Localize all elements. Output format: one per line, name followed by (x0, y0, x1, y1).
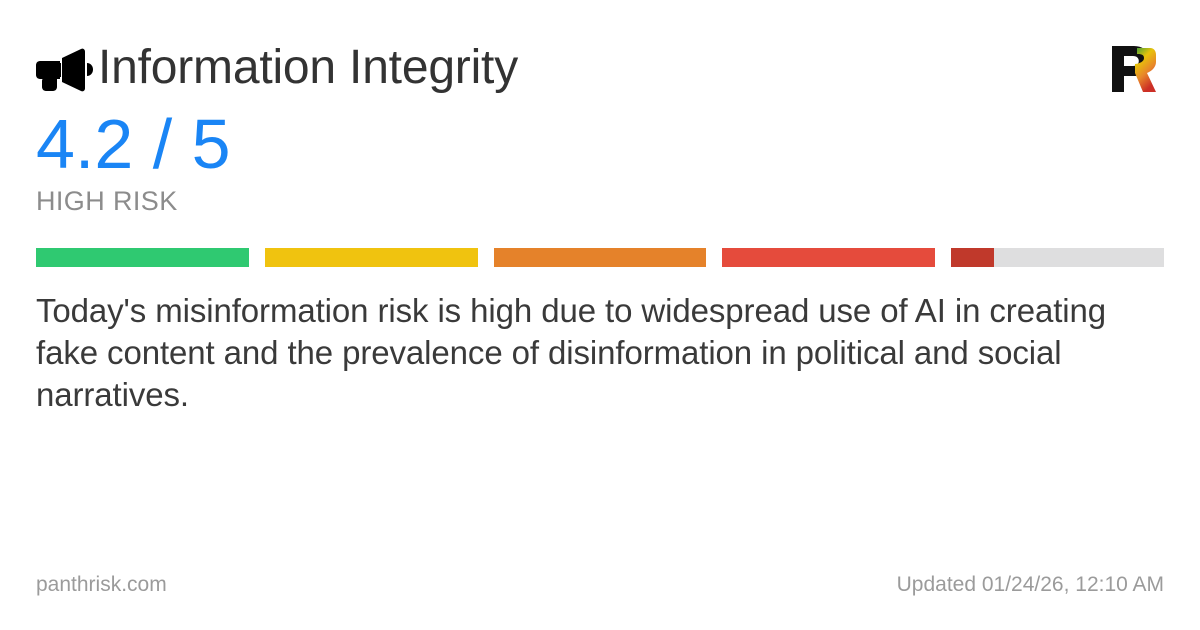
megaphone-icon (36, 43, 98, 97)
risk-meter (36, 248, 1164, 267)
header: Information Integrity (36, 40, 1164, 96)
footer-updated-label: Updated 01/24/26, 12:10 AM (897, 572, 1164, 598)
risk-level-label: HIGH RISK (36, 184, 1164, 218)
meter-segment-2 (265, 248, 478, 267)
meter-segment-1-fill (36, 248, 249, 267)
meter-segment-2-fill (265, 248, 478, 267)
meter-segment-4-fill (722, 248, 935, 267)
risk-description: Today's misinformation risk is high due … (36, 290, 1164, 416)
title-block: Information Integrity (36, 40, 518, 96)
meter-segment-5 (951, 248, 1164, 267)
meter-segment-4 (722, 248, 935, 267)
footer-site-label: panthrisk.com (36, 572, 167, 598)
page-title: Information Integrity (98, 40, 518, 96)
footer: panthrisk.com Updated 01/24/26, 12:10 AM (36, 572, 1164, 598)
meter-segment-1 (36, 248, 249, 267)
meter-segment-5-fill (951, 248, 994, 267)
pr-brand-logo-icon (1106, 42, 1160, 96)
risk-card: Information Integrity 4.2 / 5 HIG (0, 0, 1200, 630)
meter-segment-3-fill (494, 248, 707, 267)
score-value: 4.2 / 5 (36, 106, 1164, 182)
meter-segment-3 (494, 248, 707, 267)
